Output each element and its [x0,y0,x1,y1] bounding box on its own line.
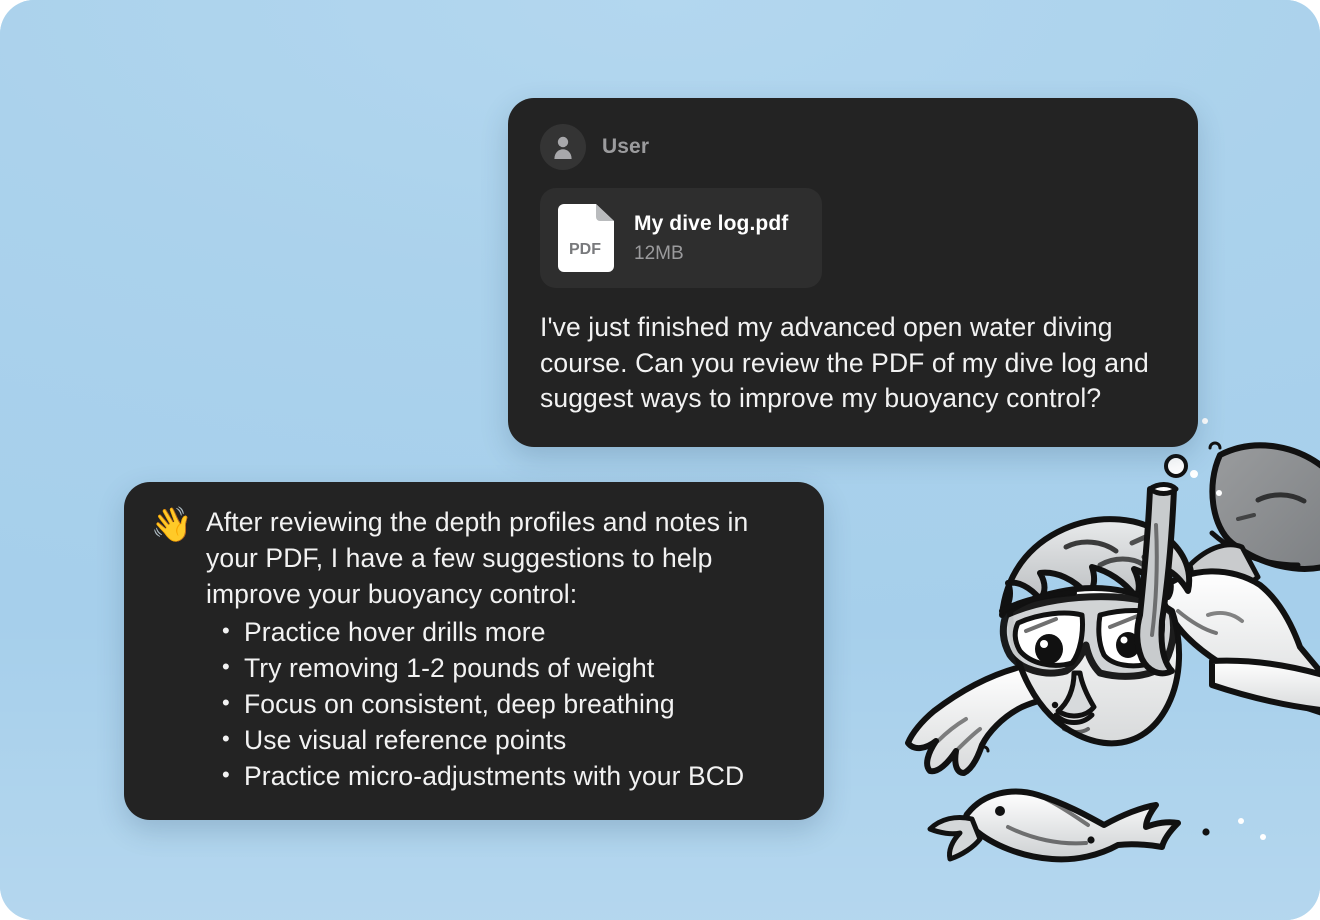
user-header: User [540,124,1166,170]
list-item: Practice micro-adjustments with your BCD [244,758,796,794]
waving-hand-emoji: 👋 [150,506,194,544]
assistant-message-body: 👋 After reviewing the depth profiles and… [150,504,796,794]
user-message-bubble: User PDF My dive log.pdf 12MB I've just … [508,98,1198,447]
assistant-intro-text: After reviewing the depth profiles and n… [206,504,796,612]
svg-text:PDF: PDF [569,241,601,258]
list-item: Try removing 1-2 pounds of weight [244,650,796,686]
pdf-filename: My dive log.pdf [634,212,788,236]
pdf-filesize: 12MB [634,243,788,265]
pdf-file-icon: PDF [558,204,614,272]
list-item: Use visual reference points [244,722,796,758]
list-item: Practice hover drills more [244,614,796,650]
list-item: Focus on consistent, deep breathing [244,686,796,722]
user-message-text: I've just finished my advanced open wate… [540,310,1166,417]
assistant-text-column: After reviewing the depth profiles and n… [206,504,796,794]
user-author-label: User [602,135,649,159]
assistant-message-bubble: 👋 After reviewing the depth profiles and… [124,482,824,820]
buoyancy-suggestions-list: Practice hover drills more Try removing … [206,614,796,794]
screenshot-canvas: User PDF My dive log.pdf 12MB I've just … [0,0,1320,920]
person-avatar-icon [540,124,586,170]
pdf-attachment-card[interactable]: PDF My dive log.pdf 12MB [540,188,822,288]
pdf-attachment-meta: My dive log.pdf 12MB [634,212,788,265]
